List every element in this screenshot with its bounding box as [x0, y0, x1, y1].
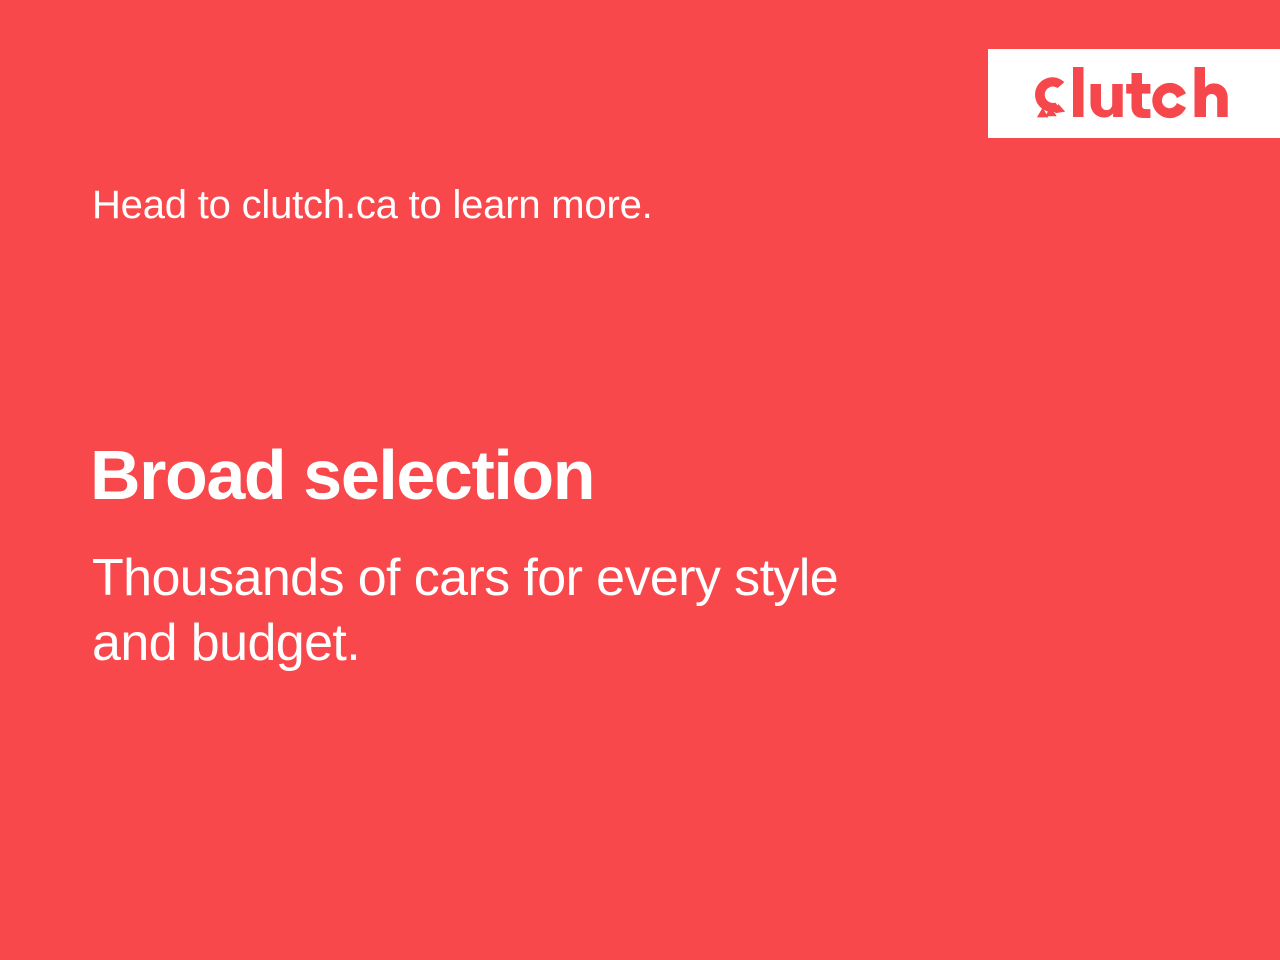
subheadline-line-1: Thousands of cars for every style [92, 546, 1022, 611]
subheadline: Thousands of cars for every style and bu… [92, 546, 1022, 676]
brand-logo-badge [988, 49, 1280, 138]
clutch-c-mark-icon [1028, 65, 1070, 123]
eyebrow-text: Head to clutch.ca to learn more. [92, 180, 653, 230]
promo-slide: Head to clutch.ca to learn more. Broad s… [0, 0, 1280, 960]
page-title: Broad selection [90, 437, 594, 513]
clutch-wordmark-icon [1071, 65, 1249, 123]
clutch-logo-lockup [1028, 65, 1249, 123]
subheadline-line-2: and budget. [92, 611, 1022, 676]
